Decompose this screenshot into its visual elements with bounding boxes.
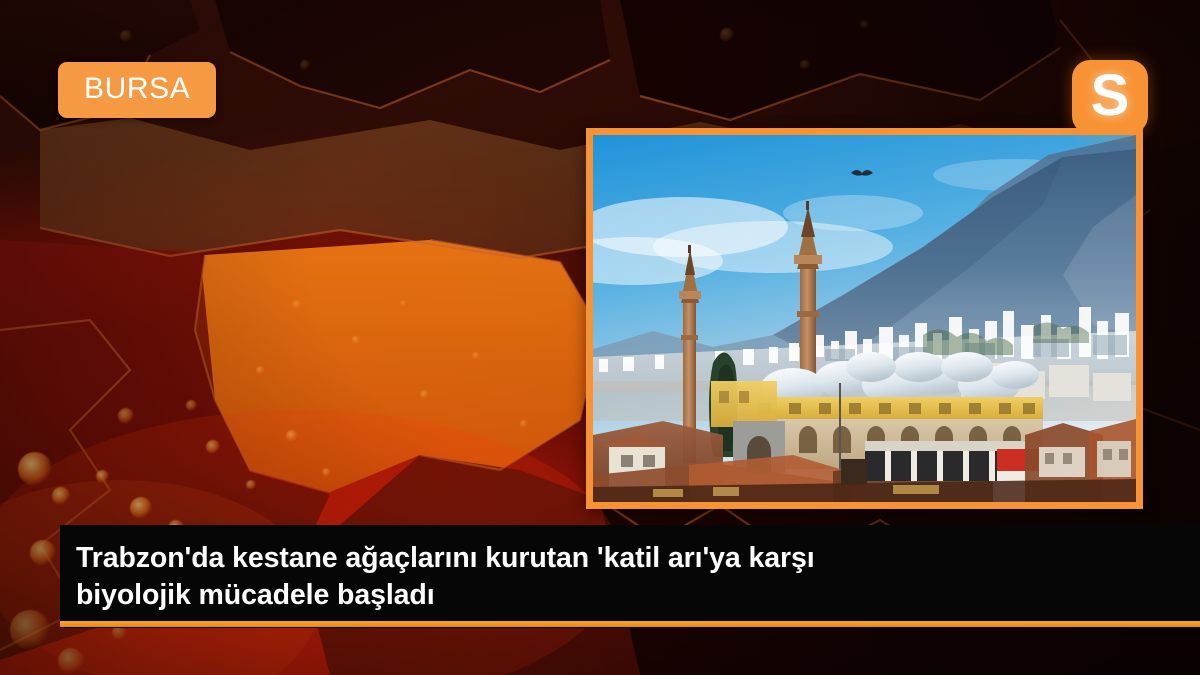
city-badge: BURSA	[58, 62, 216, 118]
headline-title: Trabzon'da kestane ağaçlarını kurutan 'k…	[60, 540, 829, 612]
brand-logo-letter: S	[1091, 67, 1130, 125]
headline-banner: Trabzon'da kestane ağaçlarını kurutan 'k…	[60, 525, 1200, 628]
brand-logo[interactable]: S	[1072, 60, 1148, 134]
city-badge-label: BURSA	[84, 72, 190, 105]
article-photo-frame	[586, 128, 1143, 509]
news-card: BURSA S	[0, 0, 1200, 675]
headline-accent-rule	[60, 621, 1200, 627]
article-photo	[593, 135, 1136, 502]
